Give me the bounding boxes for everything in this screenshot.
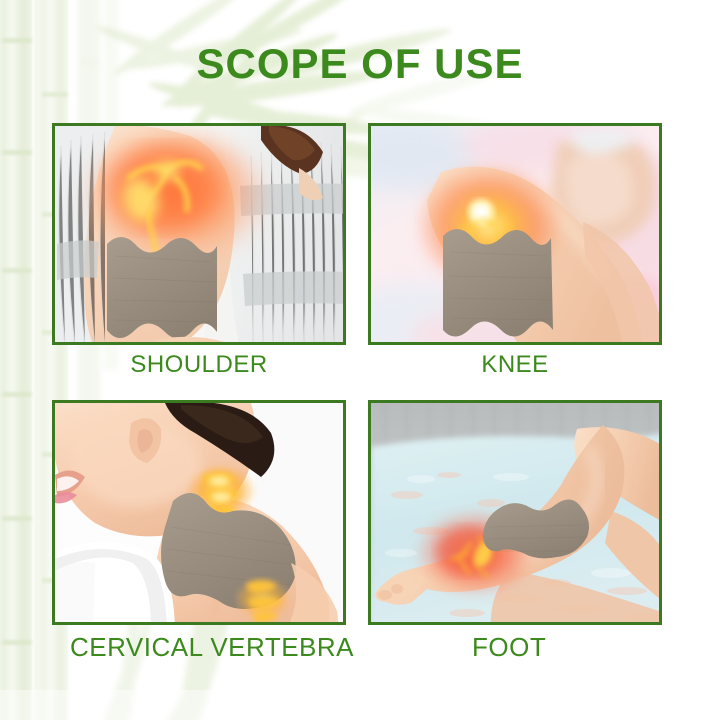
photo-frame-knee xyxy=(368,123,662,345)
scope-item-cervical: CERVICAL VERTEBRA xyxy=(52,400,346,625)
product-infographic: SCOPE OF USE xyxy=(0,0,720,720)
caption-knee: KNEE xyxy=(368,351,662,379)
photo-frame-foot xyxy=(368,400,662,625)
caption-cervical: CERVICAL VERTEBRA xyxy=(52,632,346,663)
scope-item-foot: FOOT xyxy=(368,400,662,625)
caption-foot: FOOT xyxy=(368,632,662,663)
photo-knee xyxy=(371,126,659,342)
caption-shoulder: SHOULDER xyxy=(52,351,346,379)
scope-item-knee: KNEE xyxy=(368,123,662,345)
scope-of-use-grid: SHOULDER xyxy=(0,0,720,720)
photo-foot xyxy=(371,403,659,622)
photo-shoulder xyxy=(55,126,343,342)
page-title: SCOPE OF USE xyxy=(0,40,720,88)
photo-cervical xyxy=(55,403,343,622)
photo-frame-shoulder xyxy=(52,123,346,345)
pain-relief-patch xyxy=(107,237,217,339)
photo-frame-cervical xyxy=(52,400,346,625)
scope-item-shoulder: SHOULDER xyxy=(52,123,346,345)
pain-relief-patch xyxy=(443,229,553,337)
